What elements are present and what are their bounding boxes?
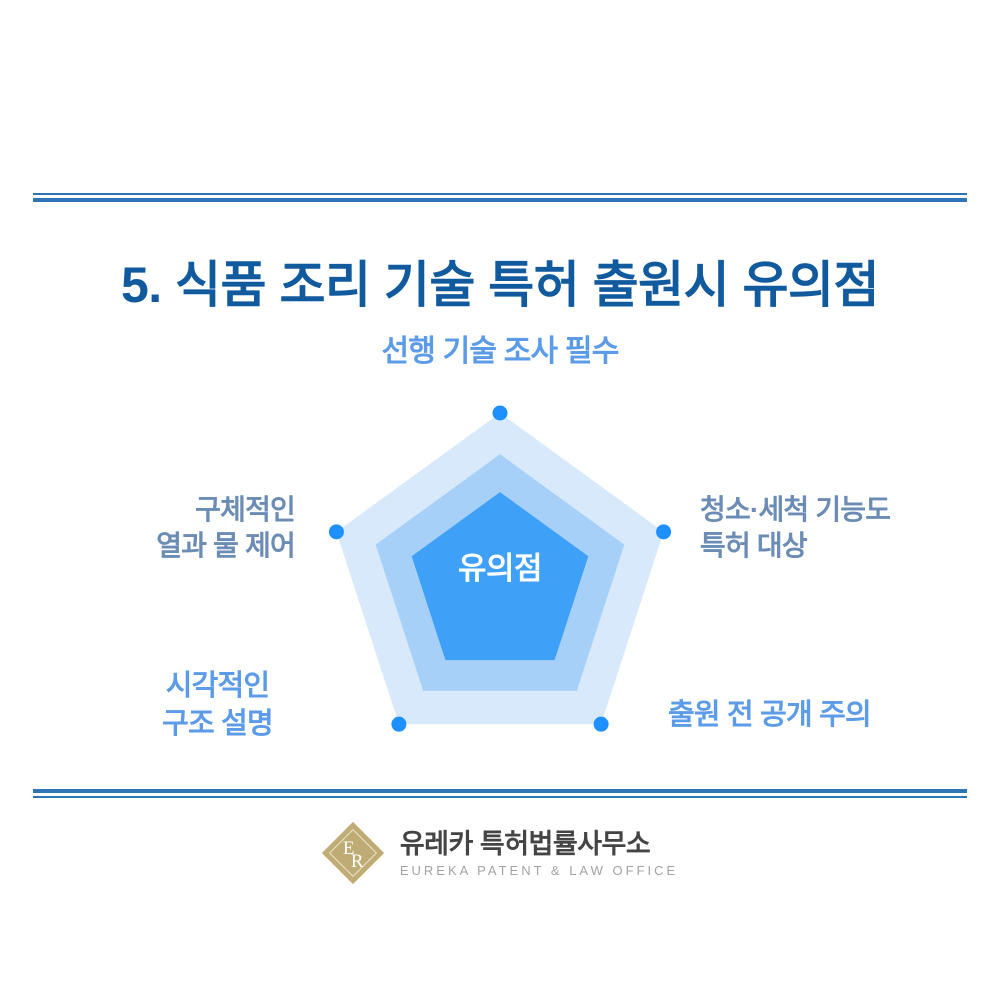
page-title: 5. 식품 조리 기술 특허 출원시 유의점 [0,256,1000,314]
pentagon-radar-diagram: 유의점 [305,395,695,760]
pentagon-vertex-dot [329,524,344,539]
radar-label-bottom-right: 출원 전 공개 주의 [668,697,953,735]
radar-label-bottom-left: 시각적인 구조 설명 [95,668,340,743]
top-divider-thick-rule [33,198,967,202]
pentagon-vertex-dot [493,406,508,421]
pentagon-vertex-dot [594,717,609,732]
footer-logo: E R 유레카 특허법률사무소 EUREKA PATENT & LAW OFFI… [0,822,1000,884]
bottom-divider-thin-rule [33,796,967,798]
radar-label-right: 청소·세척 기능도 특허 대상 [700,492,990,565]
slide-root: 5. 식품 조리 기술 특허 출원시 유의점 선행 기술 조사 필수 청소·세척… [0,0,1000,1000]
radar-label-top: 선행 기술 조사 필수 [0,332,1000,371]
firm-name-korean: 유레카 특허법률사무소 [400,828,678,860]
pentagon-vertex-dot [656,524,671,539]
monogram-letter-r: R [351,852,364,871]
pentagon-vertex-dot [391,717,406,732]
bottom-divider-thick-rule [33,789,967,793]
footer-logo-text: 유레카 특허법률사무소 EUREKA PATENT & LAW OFFICE [400,828,678,879]
monogram: E R [322,822,384,884]
top-divider [33,193,967,202]
top-divider-thin-rule [33,193,967,195]
radar-label-left: 구체적인 열과 물 제어 [20,492,295,565]
pentagon-radar-svg [305,395,695,760]
bottom-divider [33,789,967,798]
firm-name-english: EUREKA PATENT & LAW OFFICE [400,863,678,879]
eureka-diamond-logo-icon: E R [322,822,384,884]
